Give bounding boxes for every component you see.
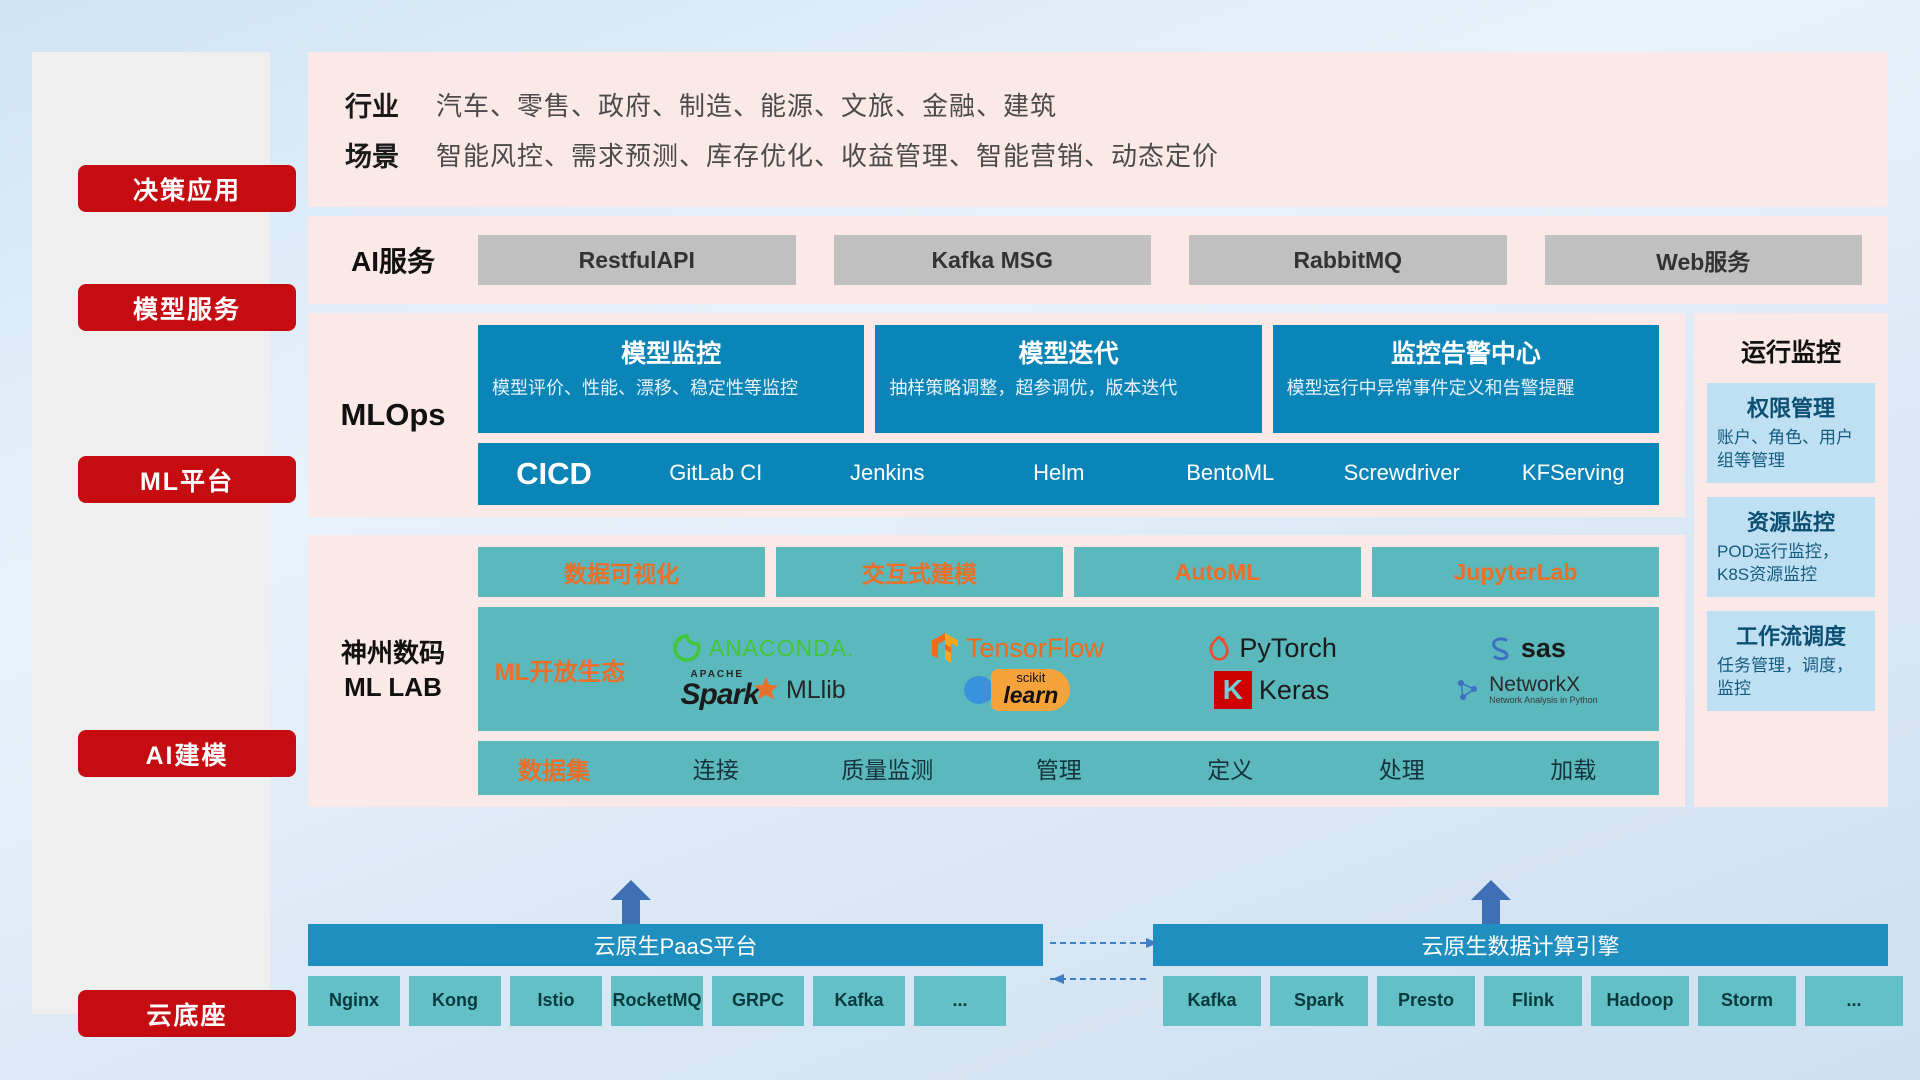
ai-service-label: AI服务 (308, 240, 478, 280)
card-desc: 模型评价、性能、漂移、稳定性等监控 (492, 376, 850, 400)
rail-item-label: ML平台 (140, 462, 234, 498)
mlops-label: MLOps (308, 325, 478, 505)
lab-tool-jupyterlab[interactable]: JupyterLab (1372, 547, 1659, 597)
dashed-arrow-heads (1050, 934, 1160, 994)
dataset-label: 数据集 (478, 751, 630, 786)
paas-up-arrow (608, 880, 654, 924)
ml-lab-label-line1: 神州数码 (341, 637, 445, 671)
scenario-label: 场景 (308, 135, 436, 174)
mllib-wordmark: MLlib (786, 676, 846, 705)
ai-service-item-restfulapi[interactable]: RestfulAPI (478, 235, 796, 285)
ml-lab-label: 神州数码 ML LAB (308, 547, 478, 795)
ai-service-item-kafka-msg[interactable]: Kafka MSG (834, 235, 1152, 285)
industry-value: 汽车、零售、政府、制造、能源、文旅、金融、建筑 (436, 86, 1057, 123)
cicd-items: GitLab CI Jenkins Helm BentoML Screwdriv… (630, 443, 1659, 487)
scikit-blue-blob-icon (964, 676, 994, 704)
cicd-item-screwdriver[interactable]: Screwdriver (1316, 443, 1488, 487)
lab-tool-automl[interactable]: AutoML (1074, 547, 1361, 597)
mlops-card-model-monitor[interactable]: 模型监控 模型评价、性能、漂移、稳定性等监控 (478, 325, 864, 433)
rail-item-label: 决策应用 (133, 171, 241, 207)
industry-row: 行业 汽车、零售、政府、制造、能源、文旅、金融、建筑 (308, 85, 1888, 124)
monitor-card-permission[interactable]: 权限管理 账户、角色、用户组等管理 (1707, 383, 1875, 483)
card-title: 资源监控 (1717, 505, 1865, 537)
chip-kafka[interactable]: Kafka (813, 976, 905, 1026)
spark-mllib-logo: APACHE Spark MLlib (681, 670, 846, 710)
ml-lab-content: 数据可视化 交互式建模 AutoML JupyterLab ML开放生态 (478, 547, 1659, 795)
chip-more-paas[interactable]: ... (914, 976, 1006, 1026)
scikit-learn-logo: scikit learn (964, 669, 1070, 711)
dataset-row: 数据集 连接 质量监测 管理 定义 处理 加载 (478, 741, 1659, 795)
cicd-item-helm[interactable]: Helm (973, 443, 1145, 487)
ai-service-items: RestfulAPI Kafka MSG RabbitMQ Web服务 (478, 235, 1862, 285)
ml-ecosystem-row: ML开放生态 ANACONDA. (478, 607, 1659, 731)
card-title: 模型迭代 (889, 334, 1247, 370)
ml-lab-band: 神州数码 ML LAB 数据可视化 交互式建模 AutoML JupyterLa… (308, 535, 1685, 807)
monitor-card-resource[interactable]: 资源监控 POD运行监控，K8S资源监控 (1707, 497, 1875, 597)
cicd-row: CICD GitLab CI Jenkins Helm BentoML Scre… (478, 443, 1659, 505)
tensorflow-logo: TensorFlow (931, 632, 1104, 664)
card-desc: 模型运行中异常事件定义和告警提醒 (1287, 376, 1645, 400)
chip-rocketmq[interactable]: RocketMQ (611, 976, 703, 1026)
chip-istio[interactable]: Istio (510, 976, 602, 1026)
scenario-value: 智能风控、需求预测、库存优化、收益管理、智能营销、动态定价 (436, 136, 1219, 173)
dataset-item-process[interactable]: 处理 (1316, 751, 1488, 785)
ml-lab-tools: 数据可视化 交互式建模 AutoML JupyterLab (478, 547, 1659, 597)
cloud-base-section: 云原生PaaS平台 云原生数据计算引擎 Nginx Kong Istio Roc… (308, 880, 1888, 1040)
networkx-mark-icon (1454, 676, 1482, 704)
ml-lab-label-line2: ML LAB (341, 671, 445, 705)
tensorflow-mark-icon (931, 632, 959, 664)
chip-kafka-engine[interactable]: Kafka (1163, 976, 1261, 1026)
left-rail: 决策应用 模型服务 ML平台 AI建模 云底座 (32, 52, 270, 1014)
platform-split: MLOps 模型监控 模型评价、性能、漂移、稳定性等监控 模型迭代 抽样策略调整… (308, 313, 1888, 807)
lab-tool-data-visualization[interactable]: 数据可视化 (478, 547, 765, 597)
ai-service-item-rabbitmq[interactable]: RabbitMQ (1189, 235, 1507, 285)
tensorflow-wordmark: TensorFlow (966, 633, 1104, 664)
networkx-wordmark: NetworkX (1489, 674, 1598, 696)
arrow-up-icon (1468, 880, 1514, 924)
ml-ecosystem-label: ML开放生态 (484, 652, 636, 687)
chip-nginx[interactable]: Nginx (308, 976, 400, 1026)
paas-chip-group: Nginx Kong Istio RocketMQ GRPC Kafka ... (308, 976, 1006, 1026)
dataset-item-load[interactable]: 加载 (1488, 751, 1660, 785)
rail-item-ml-platform[interactable]: ML平台 (78, 456, 296, 503)
dataset-item-manage[interactable]: 管理 (973, 751, 1145, 785)
cicd-item-gitlab-ci[interactable]: GitLab CI (630, 443, 802, 487)
industry-label: 行业 (308, 85, 436, 124)
runtime-monitoring-panel: 运行监控 权限管理 账户、角色、用户组等管理 资源监控 POD运行监控，K8S资… (1694, 313, 1888, 807)
sas-mark-icon (1486, 634, 1514, 662)
card-desc: 任务管理，调度，监控 (1717, 655, 1865, 701)
mlops-card-model-iteration[interactable]: 模型迭代 抽样策略调整，超参调优，版本迭代 (875, 325, 1261, 433)
lab-tool-interactive-modeling[interactable]: 交互式建模 (776, 547, 1063, 597)
ml-ecosystem-logos: ANACONDA. TensorFlow (636, 627, 1653, 711)
dataset-item-define[interactable]: 定义 (1145, 751, 1317, 785)
cicd-item-kfserving[interactable]: KFServing (1488, 443, 1660, 487)
rail-item-decision-app[interactable]: 决策应用 (78, 165, 296, 212)
mlops-content: 模型监控 模型评价、性能、漂移、稳定性等监控 模型迭代 抽样策略调整，超参调优，… (478, 325, 1659, 505)
mlops-cards: 模型监控 模型评价、性能、漂移、稳定性等监控 模型迭代 抽样策略调整，超参调优，… (478, 325, 1659, 433)
rail-item-model-service[interactable]: 模型服务 (78, 284, 296, 331)
card-title: 工作流调度 (1717, 619, 1865, 651)
keras-wordmark: Keras (1259, 675, 1330, 706)
rail-item-ai-modeling[interactable]: AI建模 (78, 730, 296, 777)
networkx-logo: NetworkX Network Analysis in Python (1454, 674, 1598, 705)
keras-mark-icon: K (1214, 671, 1252, 709)
arrow-up-icon (608, 880, 654, 924)
mlops-band: MLOps 模型监控 模型评价、性能、漂移、稳定性等监控 模型迭代 抽样策略调整… (308, 313, 1685, 517)
ai-service-item-web-service[interactable]: Web服务 (1545, 235, 1863, 285)
card-desc: 抽样策略调整，超参调优，版本迭代 (889, 376, 1247, 400)
runtime-monitoring-title: 运行监控 (1741, 333, 1841, 369)
engine-up-arrow (1468, 880, 1514, 924)
engine-chip-group: Kafka Spark Presto Flink Hadoop Storm ..… (1163, 976, 1903, 1026)
chip-hadoop[interactable]: Hadoop (1591, 976, 1689, 1026)
spark-wordmark: Spark (681, 680, 759, 710)
card-desc: POD运行监控，K8S资源监控 (1717, 541, 1865, 587)
dataset-item-connect[interactable]: 连接 (630, 751, 802, 785)
paas-platform-bar[interactable]: 云原生PaaS平台 (308, 924, 1043, 966)
monitor-card-workflow[interactable]: 工作流调度 任务管理，调度，监控 (1707, 611, 1875, 711)
spark-star-icon (753, 676, 779, 702)
chip-storm[interactable]: Storm (1698, 976, 1796, 1026)
anaconda-mark-icon (672, 633, 702, 663)
chip-kong[interactable]: Kong (409, 976, 501, 1026)
chip-spark[interactable]: Spark (1270, 976, 1368, 1026)
rail-item-label: 云底座 (146, 996, 227, 1032)
rail-item-label: AI建模 (145, 736, 228, 772)
platform-stack: MLOps 模型监控 模型评价、性能、漂移、稳定性等监控 模型迭代 抽样策略调整… (308, 313, 1685, 807)
chip-more-engine[interactable]: ... (1805, 976, 1903, 1026)
networkx-tagline: Network Analysis in Python (1489, 696, 1598, 705)
mlops-card-alert-center[interactable]: 监控告警中心 模型运行中异常事件定义和告警提醒 (1273, 325, 1659, 433)
scikit-badge: scikit learn (991, 669, 1070, 711)
learn-text: learn (1003, 684, 1058, 707)
scenario-row: 场景 智能风控、需求预测、库存优化、收益管理、智能营销、动态定价 (308, 135, 1888, 174)
sas-wordmark: sas (1521, 633, 1566, 664)
chip-presto[interactable]: Presto (1377, 976, 1475, 1026)
cicd-label: CICD (478, 443, 630, 505)
main-column: 行业 汽车、零售、政府、制造、能源、文旅、金融、建筑 场景 智能风控、需求预测、… (308, 52, 1888, 807)
anaconda-logo: ANACONDA. (672, 633, 855, 663)
dataset-items: 连接 质量监测 管理 定义 处理 加载 (630, 751, 1659, 785)
rail-item-cloud-base[interactable]: 云底座 (78, 990, 296, 1037)
industry-scenario-band: 行业 汽车、零售、政府、制造、能源、文旅、金融、建筑 场景 智能风控、需求预测、… (308, 52, 1888, 207)
cicd-item-jenkins[interactable]: Jenkins (802, 443, 974, 487)
card-title: 模型监控 (492, 334, 850, 370)
card-title: 权限管理 (1717, 391, 1865, 423)
card-title: 监控告警中心 (1287, 334, 1645, 370)
dataset-item-quality-monitor[interactable]: 质量监测 (802, 751, 974, 785)
anaconda-wordmark: ANACONDA. (709, 635, 855, 662)
data-compute-engine-bar[interactable]: 云原生数据计算引擎 (1153, 924, 1888, 966)
chip-grpc[interactable]: GRPC (712, 976, 804, 1026)
chip-flink[interactable]: Flink (1484, 976, 1582, 1026)
pytorch-wordmark: PyTorch (1239, 633, 1337, 664)
pytorch-logo: PyTorch (1206, 633, 1337, 664)
pytorch-mark-icon (1206, 633, 1232, 663)
diagram-canvas: 决策应用 模型服务 ML平台 AI建模 云底座 行业 汽车、零售、政府、制造、能… (0, 0, 1920, 1080)
ai-service-band: AI服务 RestfulAPI Kafka MSG RabbitMQ Web服务 (308, 216, 1888, 304)
rail-item-label: 模型服务 (133, 290, 241, 326)
cicd-item-bentoml[interactable]: BentoML (1145, 443, 1317, 487)
sas-logo: sas (1486, 633, 1566, 664)
keras-logo: K Keras (1214, 671, 1330, 709)
card-desc: 账户、角色、用户组等管理 (1717, 427, 1865, 473)
